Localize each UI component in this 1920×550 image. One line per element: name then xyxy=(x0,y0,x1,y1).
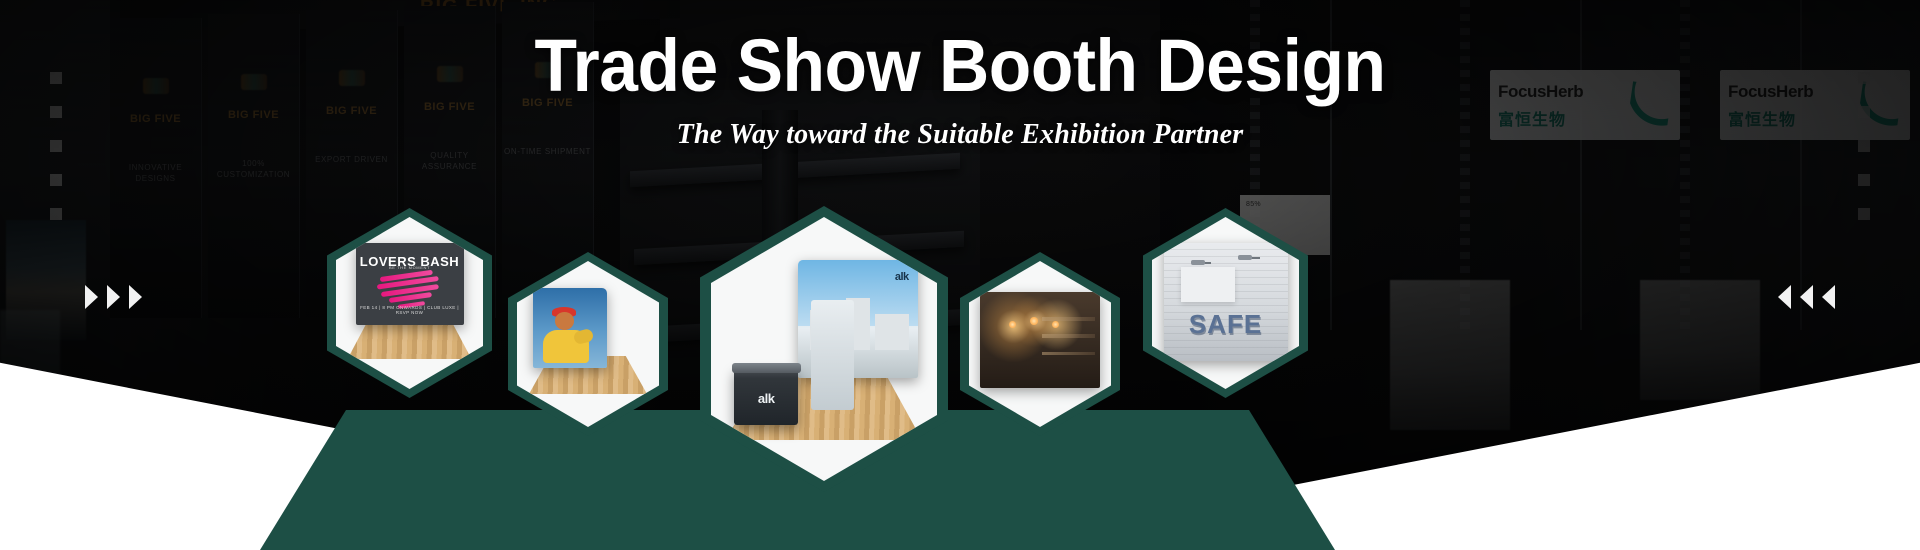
pendant-lamp-icon xyxy=(1009,321,1016,329)
hexagon-image-frame: alk alk xyxy=(711,217,937,481)
booth-render: LOVERS BASH BE THE MOMENT FEB 14 | 8 PM … xyxy=(340,243,480,363)
trade-show-banner: BIG FIVE INC BIG FIVE INNOVATIVE DESIGNS… xyxy=(0,0,1920,550)
hexagon-tile-lovers-bash[interactable]: LOVERS BASH BE THE MOMENT FEB 14 | 8 PM … xyxy=(327,208,492,398)
hexagon-tile-warm-interior[interactable] xyxy=(960,252,1120,436)
booth-render: alk alk xyxy=(717,254,931,444)
page-title: Trade Show Booth Design xyxy=(58,28,1863,103)
page-subtitle: The Way toward the Suitable Exhibition P… xyxy=(0,119,1920,151)
portrait-head xyxy=(555,312,574,330)
headline-block: Trade Show Booth Design The Way toward t… xyxy=(0,28,1920,151)
booth-render xyxy=(974,288,1106,400)
pendant-lamp-icon xyxy=(1030,317,1037,325)
counter-logo: alk xyxy=(734,391,798,406)
booth-side-panel xyxy=(811,300,854,410)
alk-wall-logo: alk xyxy=(895,271,909,283)
booth-backwall: SAFE xyxy=(1164,243,1288,361)
booth-wall-footer: FEB 14 | 8 PM ONWARDS | CLUB LUXE | RSVP… xyxy=(356,305,464,315)
hexagon-image-frame xyxy=(517,261,659,427)
shelf-line xyxy=(1042,334,1095,338)
hexagon-tile-safe-wall[interactable]: SAFE xyxy=(1143,208,1308,398)
shelf-line xyxy=(1042,352,1095,356)
hexagon-image-frame: LOVERS BASH BE THE MOMENT FEB 14 | 8 PM … xyxy=(336,217,483,389)
heart-graphic-icon xyxy=(374,268,444,307)
hexagon-image-frame: SAFE xyxy=(1152,217,1299,389)
hexagon-image-frame xyxy=(969,261,1111,427)
shelf-line xyxy=(1042,317,1095,321)
booth-render xyxy=(522,288,654,400)
hexagon-tile-portrait-booth[interactable] xyxy=(508,252,668,436)
wall-lamp-icon xyxy=(1238,255,1252,260)
booth-wall-subtitle: BE THE MOMENT xyxy=(356,265,464,270)
booth-backwall xyxy=(533,288,607,368)
white-signboard xyxy=(1181,267,1236,302)
hexagon-tile-alk-booth-featured[interactable]: alk alk xyxy=(700,206,948,492)
booth-backwall xyxy=(980,292,1100,388)
wall-lamp-icon xyxy=(1191,260,1205,265)
pendant-lamp-icon xyxy=(1052,321,1059,329)
booth-render: SAFE xyxy=(1156,241,1296,365)
booth-counter: alk xyxy=(734,368,798,425)
booth-backwall: LOVERS BASH BE THE MOMENT FEB 14 | 8 PM … xyxy=(356,243,464,325)
safe-wall-text: SAFE xyxy=(1164,309,1288,340)
building-graphic xyxy=(875,314,909,349)
